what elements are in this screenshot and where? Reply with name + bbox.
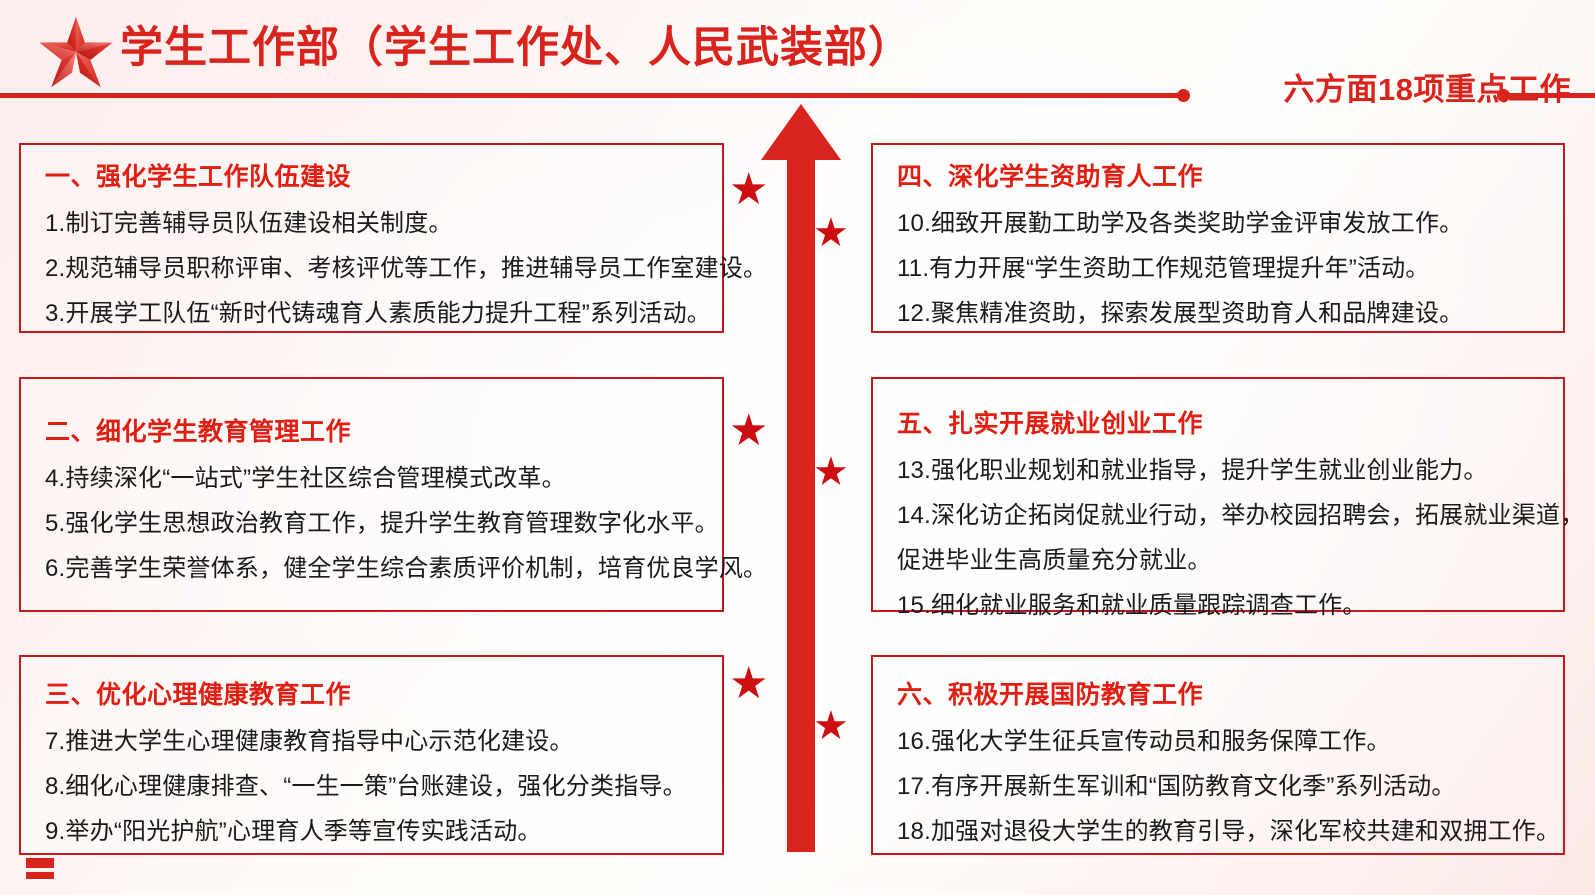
section-content: 二、细化学生教育管理工作 4.持续深化“一站式”学生社区综合管理模式改革。 5.… [45, 412, 765, 591]
star-icon: ★ [813, 452, 849, 492]
arrow-tail-stripe-1 [26, 858, 54, 868]
badge-dot-left-icon [1177, 89, 1190, 102]
page-title: 学生工作部（学生工作处、人民武装部） [120, 20, 912, 76]
arrow-tail-stripe-2 [26, 872, 54, 879]
arrow-head [761, 104, 841, 160]
section-item: 17.有序开展新生军训和“国防教育文化季”系列活动。 [897, 764, 1587, 809]
section-card-2[interactable]: 二、细化学生教育管理工作 4.持续深化“一站式”学生社区综合管理模式改革。 5.… [19, 377, 724, 612]
infographic-page: 学生工作部（学生工作处、人民武装部） 六方面18项重点工作 ★ ★ ★ ★ ★ … [0, 0, 1595, 895]
section-title: 五、扎实开展就业创业工作 [897, 404, 1587, 440]
section-card-6[interactable]: 六、积极开展国防教育工作 16.强化大学生征兵宣传动员和服务保障工作。 17.有… [871, 655, 1565, 855]
section-item: 5.强化学生思想政治教育工作，提升学生教育管理数字化水平。 [45, 501, 765, 546]
section-item: 14.深化访企拓岗促就业行动，举办校园招聘会，拓展就业渠道，促进毕业生高质量充分… [897, 493, 1587, 583]
section-item: 3.开展学工队伍“新时代铸魂育人素质能力提升工程”系列活动。 [45, 291, 765, 336]
section-item: 8.细化心理健康排查、“一生一策”台账建设，强化分类指导。 [45, 764, 765, 809]
section-content: 六、积极开展国防教育工作 16.强化大学生征兵宣传动员和服务保障工作。 17.有… [897, 675, 1587, 854]
section-item: 7.推进大学生心理健康教育指导中心示范化建设。 [45, 719, 765, 764]
section-card-4[interactable]: 四、深化学生资助育人工作 10.细致开展勤工助学及各类奖助学金评审发放工作。 1… [871, 143, 1565, 333]
section-content: 一、强化学生工作队伍建设 1.制订完善辅导员队伍建设相关制度。 2.规范辅导员职… [45, 157, 765, 336]
section-item: 6.完善学生荣誉体系，健全学生综合素质评价机制，培育优良学风。 [45, 546, 765, 591]
section-title: 四、深化学生资助育人工作 [897, 157, 1587, 193]
section-content: 四、深化学生资助育人工作 10.细致开展勤工助学及各类奖助学金评审发放工作。 1… [897, 157, 1587, 336]
section-card-1[interactable]: 一、强化学生工作队伍建设 1.制订完善辅导员队伍建设相关制度。 2.规范辅导员职… [19, 143, 724, 333]
section-item: 16.强化大学生征兵宣传动员和服务保障工作。 [897, 719, 1587, 764]
section-title: 一、强化学生工作队伍建设 [45, 157, 765, 193]
section-content: 五、扎实开展就业创业工作 13.强化职业规划和就业指导，提升学生就业创业能力。 … [897, 404, 1587, 628]
section-content: 三、优化心理健康教育工作 7.推进大学生心理健康教育指导中心示范化建设。 8.细… [45, 675, 765, 854]
section-item: 11.有力开展“学生资助工作规范管理提升年”活动。 [897, 246, 1587, 291]
section-item: 2.规范辅导员职称评审、考核评优等工作，推进辅导员工作室建设。 [45, 246, 765, 291]
section-item: 18.加强对退役大学生的教育引导，深化军校共建和双拥工作。 [897, 809, 1587, 854]
section-item: 9.举办“阳光护航”心理育人季等宣传实践活动。 [45, 809, 765, 854]
section-item: 12.聚焦精准资助，探索发展型资助育人和品牌建设。 [897, 291, 1587, 336]
section-card-5[interactable]: 五、扎实开展就业创业工作 13.强化职业规划和就业指导，提升学生就业创业能力。 … [871, 377, 1565, 612]
star-icon: ★ [813, 706, 849, 746]
red-star-logo-icon [36, 12, 116, 92]
page-header: 学生工作部（学生工作处、人民武装部） 六方面18项重点工作 [0, 0, 1595, 96]
section-item: 15.细化就业服务和就业质量跟踪调查工作。 [897, 583, 1587, 628]
section-item: 1.制订完善辅导员队伍建设相关制度。 [45, 201, 765, 246]
section-item: 10.细致开展勤工助学及各类奖助学金评审发放工作。 [897, 201, 1587, 246]
section-item: 13.强化职业规划和就业指导，提升学生就业创业能力。 [897, 448, 1587, 493]
section-card-3[interactable]: 三、优化心理健康教育工作 7.推进大学生心理健康教育指导中心示范化建设。 8.细… [19, 655, 724, 855]
header-badge: 六方面18项重点工作 [1284, 64, 1571, 109]
section-item: 4.持续深化“一站式”学生社区综合管理模式改革。 [45, 456, 765, 501]
section-title: 六、积极开展国防教育工作 [897, 675, 1587, 711]
section-title: 二、细化学生教育管理工作 [45, 412, 765, 448]
star-icon: ★ [813, 213, 849, 253]
arrow-shaft [787, 158, 815, 852]
section-title: 三、优化心理健康教育工作 [45, 675, 765, 711]
